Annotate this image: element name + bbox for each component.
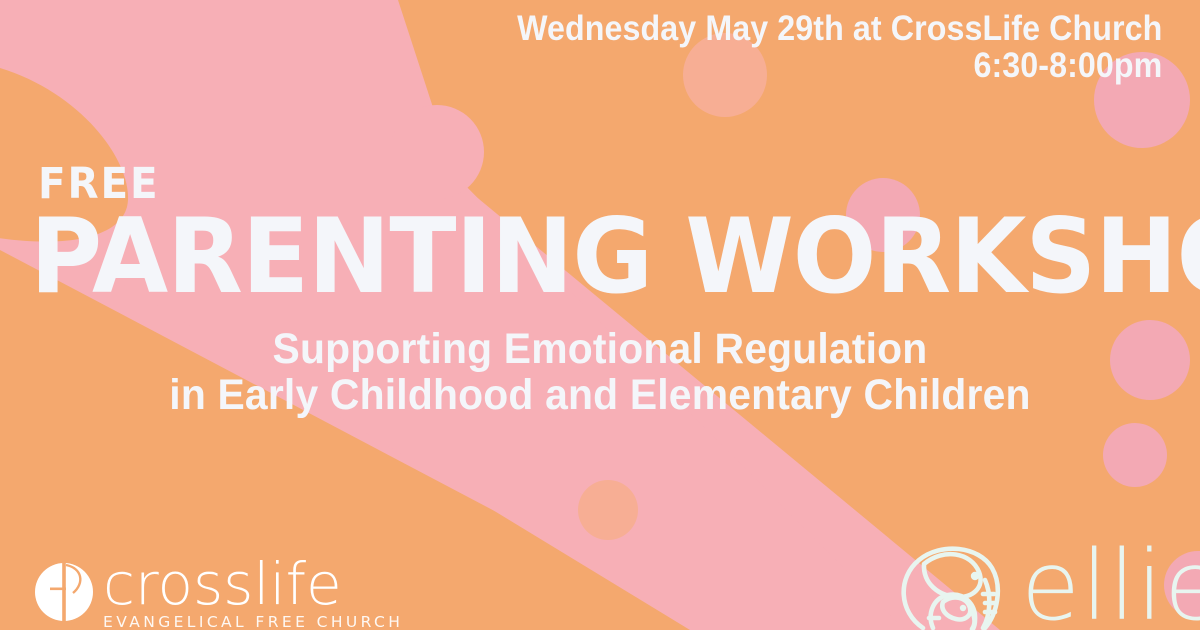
subtitle-line-1: Supporting Emotional Regulation bbox=[30, 326, 1170, 372]
event-details: Wednesday May 29th at CrossLife Church 6… bbox=[461, 10, 1162, 84]
subtitle: Supporting Emotional Regulation in Early… bbox=[0, 326, 1200, 419]
crosslife-name: crosslife bbox=[103, 558, 403, 611]
flyer-canvas: Wednesday May 29th at CrossLife Church 6… bbox=[0, 0, 1200, 630]
ellie-wordmark: ellie bbox=[1021, 546, 1200, 627]
subtitle-line-2: in Early Childhood and Elementary Childr… bbox=[30, 372, 1170, 418]
event-time-line: 6:30-8:00pm bbox=[517, 47, 1162, 84]
baby-eye bbox=[960, 605, 966, 611]
elephant-and-baby-icon bbox=[893, 540, 1011, 630]
ellie-logo: ellie bbox=[893, 540, 1200, 630]
event-date-line: Wednesday May 29th at CrossLife Church bbox=[517, 10, 1162, 47]
crosslife-wordmark: crosslife EVANGELICAL FREE CHURCH bbox=[103, 558, 403, 630]
crosslife-logo: crosslife EVANGELICAL FREE CHURCH bbox=[33, 556, 403, 630]
crosslife-tagline: EVANGELICAL FREE CHURCH bbox=[103, 613, 403, 630]
mother-eye bbox=[971, 572, 979, 580]
cross-leaf-circle-icon bbox=[33, 556, 95, 630]
page-title: PARENTING WORKSHOP bbox=[30, 206, 1200, 309]
